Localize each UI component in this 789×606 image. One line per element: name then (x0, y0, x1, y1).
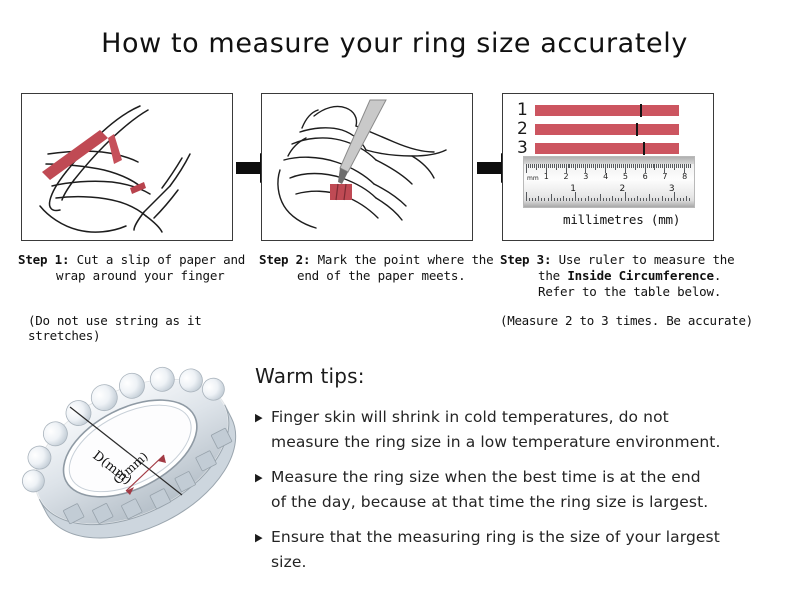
ruler-inch-tick (572, 198, 573, 201)
page-title: How to measure your ring size accurately (0, 28, 789, 59)
ruler-inch-tick (686, 196, 687, 201)
ruler-graphic: 12345678 123 mm (523, 156, 695, 208)
ruler-inch-tick (541, 198, 542, 201)
ruler-inch-tick (578, 198, 579, 201)
ruler-inch-tick (591, 198, 592, 201)
ruler-inch-tick (665, 198, 666, 201)
arrow-step1-to-step2-shaft (236, 162, 262, 174)
strip-number-2: 2 (517, 121, 535, 138)
paper-strip-row-1: 1 (517, 102, 679, 119)
ruler-inch-tick (652, 198, 653, 201)
ruler-inch-tick (551, 194, 552, 201)
ruler-inch-scale: 123 (524, 157, 694, 207)
ruler-inch-tick (615, 198, 616, 201)
ruler-inch-number: 2 (620, 184, 626, 194)
warm-tip-3-line1: Ensure that the measuring ring is the si… (271, 528, 720, 546)
warm-tip-2-line2: of the day, because at that time the rin… (271, 493, 708, 511)
ruler-inch-tick (662, 196, 663, 201)
ruler-inch-tick (658, 198, 659, 201)
ruler-inch-tick (585, 198, 586, 201)
ruler-inch-tick (689, 198, 690, 201)
ruler-inch-tick (643, 198, 644, 201)
step-3-caption: Step 3: Use ruler to measure the the Ins… (500, 252, 765, 300)
strip-tick-mark-2 (636, 123, 638, 136)
ruler-inch-tick (581, 198, 582, 201)
ruler-inch-tick (609, 198, 610, 201)
warm-tip-item-1: ▶ Finger skin will shrink in cold temper… (255, 405, 775, 455)
step-1-label: Step 1: (18, 252, 69, 267)
ruler-inch-tick (597, 198, 598, 201)
ruler-inch-tick (557, 198, 558, 201)
warm-tip-3-line2: size. (271, 553, 306, 571)
ruler-inch-tick (532, 198, 533, 201)
ruler-inch-tick (548, 198, 549, 201)
ruler-inch-tick (526, 192, 527, 201)
ruler-inch-tick (529, 198, 530, 201)
ruler-inch-tick (603, 198, 604, 201)
ruler-inch-tick (569, 198, 570, 201)
warm-tip-1-text: Finger skin will shrink in cold temperat… (271, 405, 721, 455)
ruler-inch-tick (640, 198, 641, 201)
bullet-triangle-icon: ▶ (255, 405, 271, 430)
paper-strip-3 (535, 143, 679, 154)
ruler-inch-tick (628, 198, 629, 201)
warm-tip-item-3: ▶ Ensure that the measuring ring is the … (255, 525, 775, 575)
warm-tip-1-line2: measure the ring size in a low temperatu… (271, 433, 721, 451)
warm-tip-3-text: Ensure that the measuring ring is the si… (271, 525, 720, 575)
paper-strip-row-2: 2 (517, 121, 679, 138)
ruler-inch-tick (566, 198, 567, 201)
step-3-line3: Refer to the table below. (500, 284, 765, 300)
step-2-line2: end of the paper meets. (259, 268, 494, 284)
ruler-inch-number: 1 (570, 184, 576, 194)
ruler-inch-tick (677, 198, 678, 201)
ruler-inch-tick (680, 198, 681, 201)
arrow-step2-to-step3-shaft (477, 162, 503, 174)
step-1-line2: wrap around your finger (18, 268, 253, 284)
ruler-inch-tick (535, 198, 536, 201)
ruler-inch-tick (621, 198, 622, 201)
ring-photo-illustration: D(mm) C(mm) (14, 345, 250, 560)
step-3-inside-circumference-emphasis: Inside Circumference (567, 268, 714, 283)
ring-diagram-figure: D(mm) C(mm) (14, 345, 250, 560)
ruler-inch-tick (655, 198, 656, 201)
warm-tip-1-line1: Finger skin will shrink in cold temperat… (271, 408, 669, 426)
step-3-line2-prefix: the (538, 268, 567, 283)
strip-number-1: 1 (517, 102, 535, 119)
ruler-inch-tick (560, 198, 561, 201)
strip-tick-mark-3 (643, 142, 645, 155)
hand-with-paper-strip-drawing (22, 94, 232, 240)
step-2-caption: Step 2: Mark the point where the end of … (259, 252, 494, 284)
ruler-inch-tick (544, 198, 545, 201)
step-3-label: Step 3: (500, 252, 551, 267)
ruler-inch-tick (634, 198, 635, 201)
step-2-label: Step 2: (259, 252, 310, 267)
step-3-measurement-panel: 1 2 3 12345678 123 (502, 93, 714, 241)
ruler-inch-tick (554, 198, 555, 201)
warm-tip-2-text: Measure the ring size when the best time… (271, 465, 708, 515)
paper-strip-1 (535, 105, 679, 116)
ruler-inch-tick (594, 198, 595, 201)
paper-strip-row-3: 3 (517, 140, 679, 157)
ruler-inch-tick (631, 198, 632, 201)
ruler-inch-tick (618, 198, 619, 201)
paper-strip-2 (535, 124, 679, 135)
ruler-inch-tick (563, 196, 564, 201)
ruler-inch-tick (683, 198, 684, 201)
step-3-line1: Use ruler to measure the (559, 252, 735, 267)
ruler-inch-tick (588, 196, 589, 201)
bullet-triangle-icon: ▶ (255, 525, 271, 550)
step-2-line1: Mark the point where the (318, 252, 494, 267)
strip-number-3: 3 (517, 140, 535, 157)
ruler-inch-tick (671, 198, 672, 201)
ruler-inch-tick (649, 194, 650, 201)
ruler-inch-tick (538, 196, 539, 201)
warm-tips-section: Warm tips: ▶ Finger skin will shrink in … (255, 364, 775, 585)
step-3-line2: the Inside Circumference. (500, 268, 765, 284)
ruler-inch-tick (612, 196, 613, 201)
hand-marking-paper-drawing (262, 94, 472, 240)
ruler-inch-tick (668, 198, 669, 201)
ruler-inch-tick (646, 198, 647, 201)
ruler-unit-caption: millimetres (mm) (563, 212, 680, 227)
step-3-note: (Measure 2 to 3 times. Be accurate) (500, 313, 775, 328)
step-1-caption: Step 1: Cut a slip of paper and wrap aro… (18, 252, 253, 284)
bullet-triangle-icon: ▶ (255, 465, 271, 490)
step-3-line2-suffix: . (714, 268, 721, 283)
step-2-illustration-panel (261, 93, 473, 241)
step-1-note: (Do not use string as it stretches) (28, 313, 268, 343)
warm-tip-item-2: ▶ Measure the ring size when the best ti… (255, 465, 775, 515)
step-1-line1: Cut a slip of paper and (77, 252, 246, 267)
warm-tip-2-line1: Measure the ring size when the best time… (271, 468, 701, 486)
ruler-inch-tick (606, 198, 607, 201)
ruler-inch-number: 3 (669, 184, 675, 194)
ruler-inch-tick (637, 196, 638, 201)
ring-size-guide-page: How to measure your ring size accurately (0, 0, 789, 606)
warm-tips-heading: Warm tips: (255, 364, 775, 388)
ruler-origin-label: mm (527, 175, 539, 182)
step-1-illustration-panel (21, 93, 233, 241)
strip-tick-mark-1 (640, 104, 642, 117)
ruler-inch-tick (600, 194, 601, 201)
